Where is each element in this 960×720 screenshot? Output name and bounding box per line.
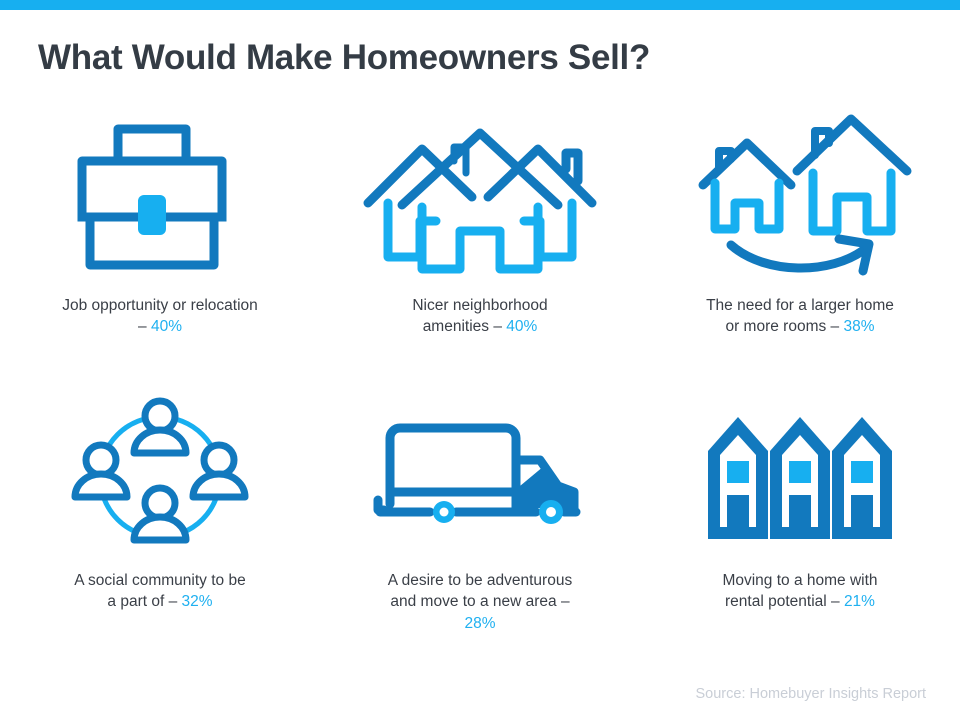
caption-adventurous-move: A desire to be adventurous and move to a… — [388, 570, 572, 634]
stat-value: 28% — [464, 615, 495, 632]
caption-rental-potential: Moving to a home with rental potential –… — [722, 570, 877, 613]
stat-value: 21% — [844, 593, 875, 610]
caption-line1: Nicer neighborhood — [412, 297, 547, 314]
caption-line1: Moving to a home with — [722, 572, 877, 589]
caption-line1: Job opportunity or relocation — [62, 297, 258, 314]
stat-cell-neighborhood-amenities: Nicer neighborhood amenities – 40% — [320, 105, 640, 385]
three-houses-outline-icon — [360, 115, 600, 285]
stats-grid: Job opportunity or relocation – 40% — [0, 105, 960, 670]
top-accent-bar — [0, 0, 960, 10]
caption-line2-prefix: rental potential – — [725, 593, 844, 610]
stat-cell-job-relocation: Job opportunity or relocation – 40% — [0, 105, 320, 385]
moving-truck-icon — [368, 408, 593, 548]
stat-value: 40% — [506, 318, 537, 335]
briefcase-icon-wrap — [60, 105, 260, 295]
house-upgrade-arrow-icon-wrap — [685, 105, 915, 295]
caption-line1: A desire to be adventurous — [388, 572, 572, 589]
people-network-icon-wrap — [65, 385, 255, 570]
house-upgrade-arrow-icon — [685, 113, 915, 288]
stat-value: 40% — [151, 318, 182, 335]
three-houses-outline-icon-wrap — [360, 105, 600, 295]
caption-line2-prefix: a part of – — [107, 593, 181, 610]
caption-line2-prefix: or more rooms – — [725, 318, 843, 335]
caption-social-community: A social community to be a part of – 32% — [74, 570, 245, 613]
stat-cell-social-community: A social community to be a part of – 32% — [0, 385, 320, 670]
caption-larger-home: The need for a larger home or more rooms… — [706, 295, 894, 338]
house-doors — [727, 495, 873, 527]
moving-truck-icon-wrap — [368, 385, 593, 570]
stat-cell-adventurous-move: A desire to be adventurous and move to a… — [320, 385, 640, 670]
stat-cell-rental-potential: Moving to a home with rental potential –… — [640, 385, 960, 670]
source-attribution: Source: Homebuyer Insights Report — [696, 686, 927, 702]
three-houses-filled-icon — [700, 403, 900, 553]
briefcase-clasp — [138, 195, 166, 235]
three-houses-filled-icon-wrap — [700, 385, 900, 570]
page-title: What Would Make Homeowners Sell? — [38, 38, 650, 78]
house-windows — [727, 461, 873, 483]
caption-job-relocation: Job opportunity or relocation – 40% — [62, 295, 258, 338]
stat-value: 32% — [182, 593, 213, 610]
caption-line1: The need for a larger home — [706, 297, 894, 314]
caption-neighborhood-amenities: Nicer neighborhood amenities – 40% — [412, 295, 547, 338]
stat-value: 38% — [843, 318, 874, 335]
caption-line2-prefix: amenities – — [423, 318, 507, 335]
briefcase-icon — [60, 115, 260, 285]
stat-cell-larger-home: The need for a larger home or more rooms… — [640, 105, 960, 385]
caption-line1: A social community to be — [74, 572, 245, 589]
people-network-icon — [65, 390, 255, 565]
caption-line2-prefix: and move to a new area – — [390, 593, 569, 610]
caption-line2-prefix: – — [138, 318, 151, 335]
